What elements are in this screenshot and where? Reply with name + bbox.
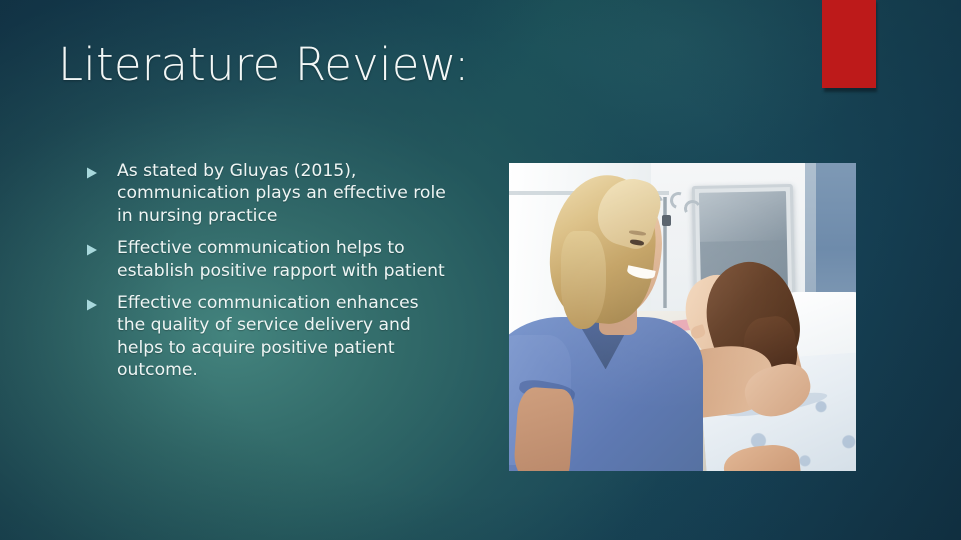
slide: Literature Review: As stated by Gluyas (… [0, 0, 961, 540]
photo-scene [509, 163, 856, 471]
list-item-text: As stated by Gluyas (2015), communicatio… [117, 160, 448, 227]
slide-photo [509, 163, 856, 471]
page-title: Literature Review: [58, 38, 470, 91]
list-item-text: Effective communication helps to establi… [117, 237, 448, 282]
list-item-text: Effective communication enhances the qua… [117, 292, 448, 382]
iv-pole-clamp [662, 215, 671, 226]
nurse-forearm [513, 386, 575, 471]
nurse-hair-strand [561, 231, 606, 330]
list-item: Effective communication enhances the qua… [86, 292, 448, 382]
list-item: As stated by Gluyas (2015), communicatio… [86, 160, 448, 227]
triangle-bullet-icon [86, 244, 98, 256]
triangle-bullet-icon [86, 167, 98, 179]
list-item: Effective communication helps to establi… [86, 237, 448, 282]
monitor-glare [699, 191, 787, 242]
triangle-bullet-icon [86, 299, 98, 311]
red-accent-block [822, 0, 876, 88]
iv-pole [663, 197, 667, 308]
bullet-list: As stated by Gluyas (2015), communicatio… [86, 160, 448, 382]
